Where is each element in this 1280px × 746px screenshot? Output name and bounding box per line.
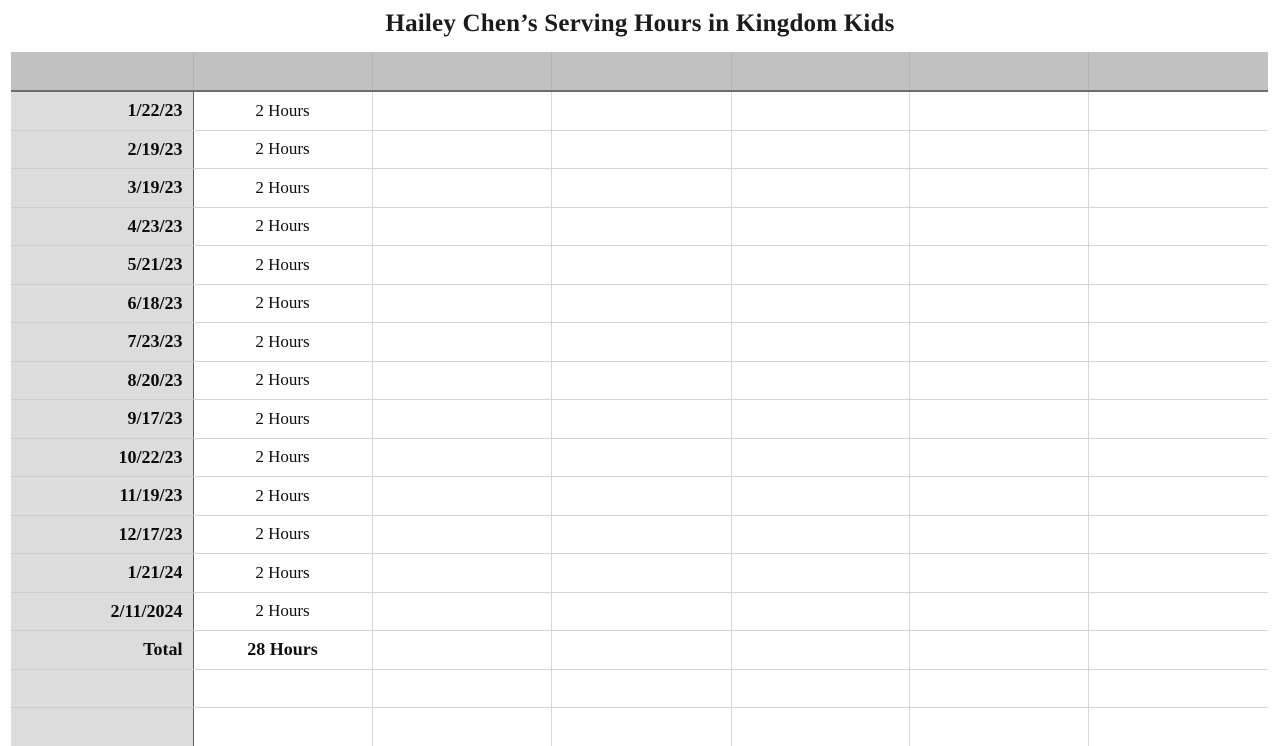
date-cell[interactable]: 1/22/23 bbox=[11, 91, 193, 130]
table-header bbox=[11, 52, 1268, 91]
empty-cell[interactable] bbox=[731, 169, 909, 208]
total-label-cell[interactable]: Total bbox=[11, 631, 193, 670]
empty-cell[interactable] bbox=[372, 361, 551, 400]
empty-cell[interactable] bbox=[551, 631, 731, 670]
empty-cell[interactable] bbox=[731, 207, 909, 246]
empty-cell[interactable] bbox=[731, 284, 909, 323]
empty-cell[interactable] bbox=[731, 515, 909, 554]
empty-cell[interactable] bbox=[372, 91, 551, 130]
table-row: 5/21/232 Hours bbox=[11, 246, 1268, 285]
empty-cell[interactable] bbox=[909, 91, 1088, 130]
empty-cell[interactable] bbox=[731, 592, 909, 631]
empty-cell[interactable] bbox=[372, 554, 551, 593]
date-cell[interactable]: 3/19/23 bbox=[11, 169, 193, 208]
empty-cell[interactable] bbox=[731, 708, 909, 746]
table-row bbox=[11, 669, 1268, 708]
empty-cell[interactable] bbox=[909, 323, 1088, 362]
header-cell-hours[interactable] bbox=[193, 52, 372, 91]
empty-cell[interactable] bbox=[1088, 361, 1268, 400]
header-cell-7[interactable] bbox=[1088, 52, 1268, 91]
empty-cell[interactable] bbox=[909, 284, 1088, 323]
empty-cell[interactable] bbox=[372, 207, 551, 246]
hours-cell[interactable]: 2 Hours bbox=[193, 400, 372, 439]
table-row: 1/22/232 Hours bbox=[11, 91, 1268, 130]
empty-cell[interactable] bbox=[551, 477, 731, 516]
empty-cell[interactable] bbox=[1088, 400, 1268, 439]
empty-cell[interactable] bbox=[731, 91, 909, 130]
table-row: 4/23/232 Hours bbox=[11, 207, 1268, 246]
empty-cell[interactable] bbox=[372, 515, 551, 554]
empty-cell[interactable] bbox=[731, 400, 909, 439]
empty-cell[interactable] bbox=[731, 477, 909, 516]
hours-cell[interactable]: 2 Hours bbox=[193, 284, 372, 323]
hours-cell[interactable]: 2 Hours bbox=[193, 207, 372, 246]
hours-cell[interactable]: 2 Hours bbox=[193, 515, 372, 554]
date-cell[interactable] bbox=[11, 708, 193, 746]
table-row bbox=[11, 708, 1268, 746]
empty-cell[interactable] bbox=[1088, 592, 1268, 631]
hours-cell[interactable]: 2 Hours bbox=[193, 323, 372, 362]
empty-cell[interactable] bbox=[1088, 130, 1268, 169]
table-row: Total28 Hours bbox=[11, 631, 1268, 670]
empty-cell[interactable] bbox=[1088, 246, 1268, 285]
hours-cell[interactable]: 2 Hours bbox=[193, 592, 372, 631]
empty-cell[interactable] bbox=[1088, 669, 1268, 708]
serving-hours-table-wrapper: 1/22/232 Hours2/19/232 Hours3/19/232 Hou… bbox=[11, 52, 1268, 746]
table-row: 3/19/232 Hours bbox=[11, 169, 1268, 208]
date-cell[interactable]: 9/17/23 bbox=[11, 400, 193, 439]
empty-cell[interactable] bbox=[372, 323, 551, 362]
empty-cell[interactable] bbox=[551, 592, 731, 631]
empty-cell[interactable] bbox=[909, 708, 1088, 746]
header-cell-4[interactable] bbox=[551, 52, 731, 91]
empty-cell[interactable] bbox=[551, 169, 731, 208]
table-row: 11/19/232 Hours bbox=[11, 477, 1268, 516]
empty-cell[interactable] bbox=[909, 592, 1088, 631]
date-cell[interactable]: 2/19/23 bbox=[11, 130, 193, 169]
hours-cell[interactable] bbox=[193, 669, 372, 708]
empty-cell[interactable] bbox=[909, 130, 1088, 169]
empty-cell[interactable] bbox=[1088, 91, 1268, 130]
header-cell-5[interactable] bbox=[731, 52, 909, 91]
empty-cell[interactable] bbox=[909, 515, 1088, 554]
empty-cell[interactable] bbox=[731, 554, 909, 593]
empty-cell[interactable] bbox=[731, 246, 909, 285]
empty-cell[interactable] bbox=[1088, 708, 1268, 746]
date-cell[interactable]: 12/17/23 bbox=[11, 515, 193, 554]
empty-cell[interactable] bbox=[372, 708, 551, 746]
hours-cell[interactable]: 2 Hours bbox=[193, 554, 372, 593]
total-hours-cell[interactable]: 28 Hours bbox=[193, 631, 372, 670]
table-row: 10/22/232 Hours bbox=[11, 438, 1268, 477]
empty-cell[interactable] bbox=[1088, 284, 1268, 323]
empty-cell[interactable] bbox=[909, 477, 1088, 516]
table-row: 12/17/232 Hours bbox=[11, 515, 1268, 554]
empty-cell[interactable] bbox=[1088, 438, 1268, 477]
hours-cell[interactable]: 2 Hours bbox=[193, 130, 372, 169]
table-row: 6/18/232 Hours bbox=[11, 284, 1268, 323]
header-cell-3[interactable] bbox=[372, 52, 551, 91]
date-cell[interactable]: 7/23/23 bbox=[11, 323, 193, 362]
empty-cell[interactable] bbox=[372, 400, 551, 439]
table-row: 2/19/232 Hours bbox=[11, 130, 1268, 169]
empty-cell[interactable] bbox=[909, 400, 1088, 439]
table-row: 1/21/242 Hours bbox=[11, 554, 1268, 593]
date-cell[interactable]: 2/11/2024 bbox=[11, 592, 193, 631]
empty-cell[interactable] bbox=[551, 246, 731, 285]
empty-cell[interactable] bbox=[551, 708, 731, 746]
empty-cell[interactable] bbox=[909, 361, 1088, 400]
table-row: 2/11/20242 Hours bbox=[11, 592, 1268, 631]
date-cell[interactable] bbox=[11, 669, 193, 708]
table-row: 7/23/232 Hours bbox=[11, 323, 1268, 362]
empty-cell[interactable] bbox=[372, 169, 551, 208]
empty-cell[interactable] bbox=[551, 400, 731, 439]
serving-hours-table: 1/22/232 Hours2/19/232 Hours3/19/232 Hou… bbox=[11, 52, 1268, 746]
empty-cell[interactable] bbox=[551, 91, 731, 130]
document-page: Hailey Chen’s Serving Hours in Kingdom K… bbox=[0, 0, 1280, 746]
empty-cell[interactable] bbox=[551, 515, 731, 554]
empty-cell[interactable] bbox=[1088, 631, 1268, 670]
empty-cell[interactable] bbox=[551, 323, 731, 362]
table-body: 1/22/232 Hours2/19/232 Hours3/19/232 Hou… bbox=[11, 91, 1268, 746]
empty-cell[interactable] bbox=[551, 284, 731, 323]
empty-cell[interactable] bbox=[731, 669, 909, 708]
empty-cell[interactable] bbox=[909, 207, 1088, 246]
empty-cell[interactable] bbox=[551, 130, 731, 169]
empty-cell[interactable] bbox=[909, 169, 1088, 208]
empty-cell[interactable] bbox=[1088, 207, 1268, 246]
empty-cell[interactable] bbox=[1088, 554, 1268, 593]
date-cell[interactable]: 8/20/23 bbox=[11, 361, 193, 400]
empty-cell[interactable] bbox=[731, 361, 909, 400]
hours-cell[interactable]: 2 Hours bbox=[193, 361, 372, 400]
hours-cell[interactable]: 2 Hours bbox=[193, 246, 372, 285]
empty-cell[interactable] bbox=[372, 246, 551, 285]
empty-cell[interactable] bbox=[372, 438, 551, 477]
empty-cell[interactable] bbox=[909, 554, 1088, 593]
empty-cell[interactable] bbox=[551, 361, 731, 400]
empty-cell[interactable] bbox=[1088, 169, 1268, 208]
empty-cell[interactable] bbox=[731, 323, 909, 362]
empty-cell[interactable] bbox=[372, 477, 551, 516]
empty-cell[interactable] bbox=[372, 284, 551, 323]
date-cell[interactable]: 6/18/23 bbox=[11, 284, 193, 323]
empty-cell[interactable] bbox=[1088, 515, 1268, 554]
hours-cell[interactable] bbox=[193, 708, 372, 746]
empty-cell[interactable] bbox=[551, 554, 731, 593]
empty-cell[interactable] bbox=[372, 631, 551, 670]
empty-cell[interactable] bbox=[731, 631, 909, 670]
empty-cell[interactable] bbox=[372, 669, 551, 708]
empty-cell[interactable] bbox=[1088, 323, 1268, 362]
header-cell-date[interactable] bbox=[11, 52, 193, 91]
empty-cell[interactable] bbox=[372, 592, 551, 631]
empty-cell[interactable] bbox=[909, 631, 1088, 670]
table-header-row bbox=[11, 52, 1268, 91]
empty-cell[interactable] bbox=[551, 438, 731, 477]
date-cell[interactable]: 11/19/23 bbox=[11, 477, 193, 516]
hours-cell[interactable]: 2 Hours bbox=[193, 438, 372, 477]
empty-cell[interactable] bbox=[1088, 477, 1268, 516]
empty-cell[interactable] bbox=[909, 438, 1088, 477]
page-title: Hailey Chen’s Serving Hours in Kingdom K… bbox=[0, 8, 1280, 40]
hours-cell[interactable]: 2 Hours bbox=[193, 91, 372, 130]
header-cell-6[interactable] bbox=[909, 52, 1088, 91]
date-cell[interactable]: 4/23/23 bbox=[11, 207, 193, 246]
table-row: 8/20/232 Hours bbox=[11, 361, 1268, 400]
date-cell[interactable]: 10/22/23 bbox=[11, 438, 193, 477]
empty-cell[interactable] bbox=[731, 130, 909, 169]
empty-cell[interactable] bbox=[551, 207, 731, 246]
empty-cell[interactable] bbox=[731, 438, 909, 477]
empty-cell[interactable] bbox=[551, 669, 731, 708]
empty-cell[interactable] bbox=[909, 669, 1088, 708]
date-cell[interactable]: 5/21/23 bbox=[11, 246, 193, 285]
date-cell[interactable]: 1/21/24 bbox=[11, 554, 193, 593]
empty-cell[interactable] bbox=[372, 130, 551, 169]
table-row: 9/17/232 Hours bbox=[11, 400, 1268, 439]
hours-cell[interactable]: 2 Hours bbox=[193, 169, 372, 208]
hours-cell[interactable]: 2 Hours bbox=[193, 477, 372, 516]
empty-cell[interactable] bbox=[909, 246, 1088, 285]
